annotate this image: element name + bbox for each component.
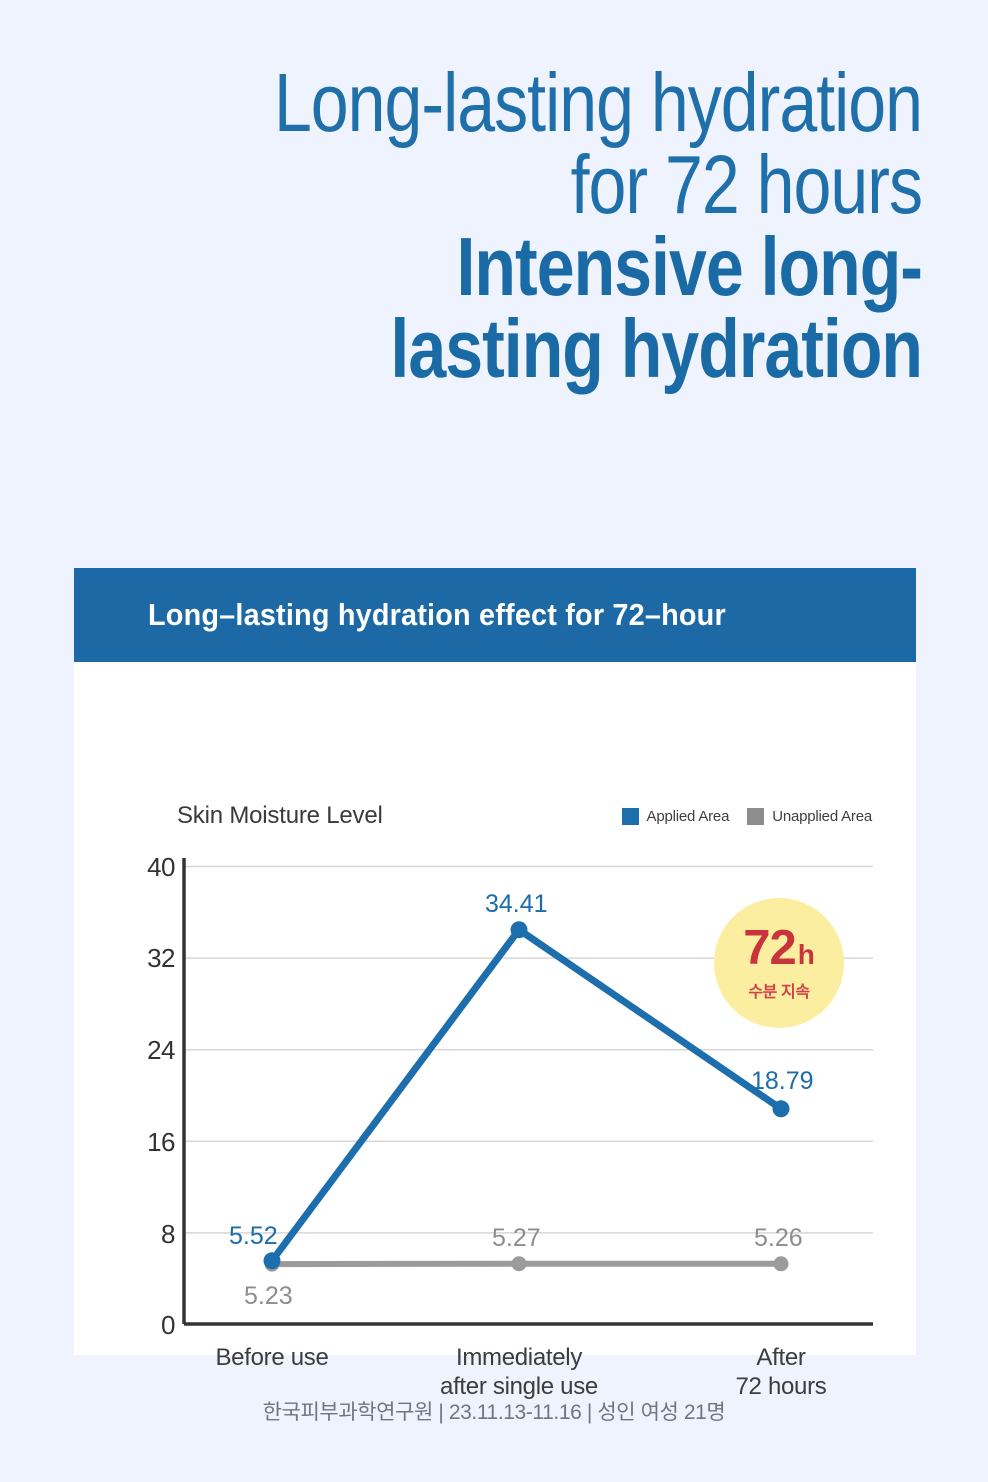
x-tick-after-72-hours: After 72 hours (681, 1343, 881, 1402)
headline-line-1: Long-lasting hydration (166, 62, 922, 144)
x-tick-immediately-line1: Immediately (399, 1343, 639, 1372)
series-applied-area (264, 921, 790, 1269)
page-headline: Long-lasting hydration for 72 hours Inte… (0, 62, 988, 391)
series-unapplied-area (265, 1256, 789, 1271)
chart-card: Long–lasting hydration effect for 72–hou… (74, 568, 916, 1355)
data-label-applied-before: 5.52 (229, 1222, 278, 1251)
headline-line-4: lasting hydration (166, 308, 922, 390)
data-label-unapplied-after72: 5.26 (754, 1224, 803, 1253)
chart-title: Long–lasting hydration effect for 72–hou… (148, 597, 726, 633)
data-label-unapplied-immediate: 5.27 (492, 1224, 541, 1253)
x-tick-before-use: Before use (172, 1343, 372, 1372)
x-tick-before-use-line1: Before use (172, 1343, 372, 1372)
x-tick-immediately-after-single-use: Immediately after single use (399, 1343, 639, 1402)
chart-card-header: Long–lasting hydration effect for 72–hou… (74, 568, 916, 662)
headline-line-3: Intensive long- (166, 226, 922, 308)
badge-unit: h (798, 941, 815, 969)
x-tick-after72-line1: After (681, 1343, 881, 1372)
data-label-applied-after72: 18.79 (751, 1067, 814, 1096)
chart-plot-region: Skin Moisture Level Applied Area Unappli… (74, 662, 916, 1355)
data-label-unapplied-before: 5.23 (244, 1282, 293, 1311)
badge-number: 72 (743, 924, 796, 973)
hydration-duration-badge: 72 h 수분 지속 (714, 898, 844, 1028)
data-label-applied-immediate: 34.41 (485, 890, 548, 919)
badge-value-row: 72 h (743, 924, 815, 973)
headline-line-2: for 72 hours (166, 144, 922, 226)
badge-subtitle: 수분 지속 (748, 978, 809, 1002)
study-source-footer: 한국피부과학연구원 | 23.11.13-11.16 | 성인 여성 21명 (0, 1396, 988, 1426)
